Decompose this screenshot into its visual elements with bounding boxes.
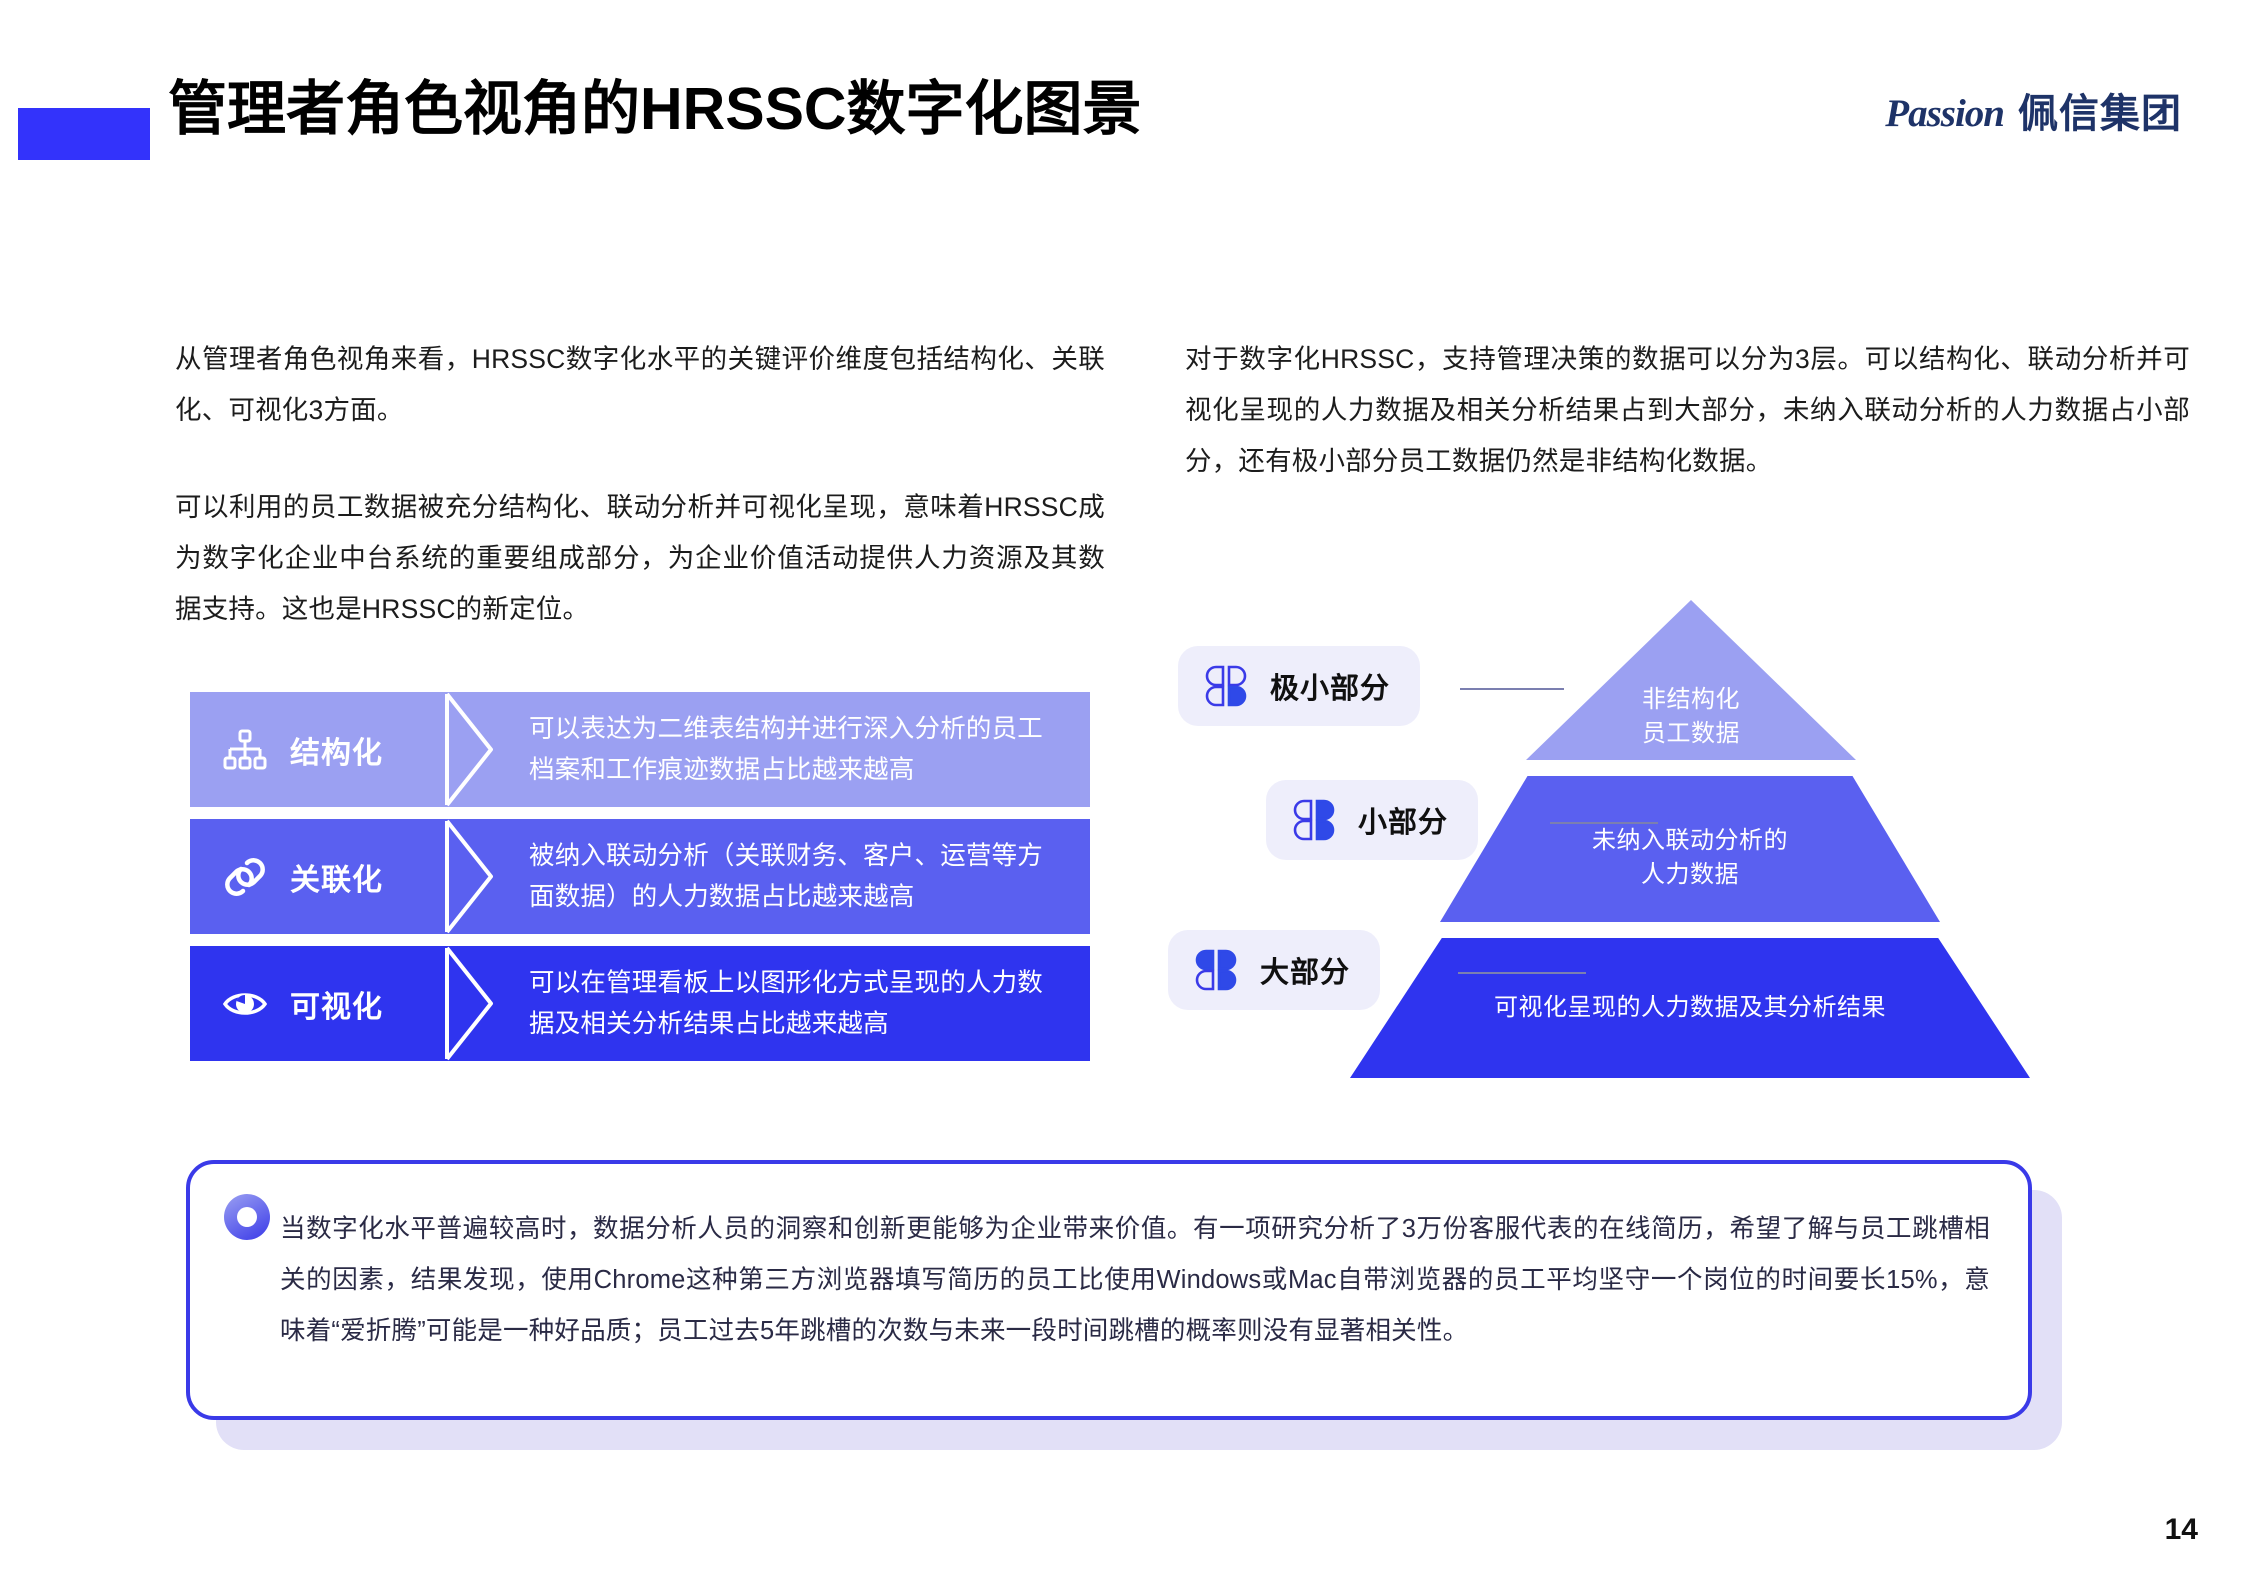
intro-paragraph-left-2: 可以利用的员工数据被充分结构化、联动分析并可视化呈现，意味着HRSSC成为数字化… <box>175 482 1105 635</box>
pyramid-pill-middle-label: 小部分 <box>1358 799 1448 841</box>
page-title: 管理者角色视角的HRSSC数字化图景 <box>168 76 1142 144</box>
intro-paragraph-left-1: 从管理者角色视角来看，HRSSC数字化水平的关键评价维度包括结构化、关联化、可视… <box>175 334 1105 436</box>
leader-line-bottom <box>1458 972 1586 974</box>
pyramid-pill-top-label: 极小部分 <box>1270 665 1390 707</box>
dimension-label-group: 结构化 <box>190 692 445 807</box>
tier-line: 员工数据 <box>1642 717 1740 751</box>
leader-line-top <box>1460 688 1564 690</box>
brand-script-text: Passion <box>1885 85 2004 136</box>
brand-cn-text: 佩信集团 <box>2018 81 2182 139</box>
chevron-divider <box>445 946 503 1061</box>
org-chart-icon <box>222 727 268 773</box>
chevron-divider <box>445 819 503 934</box>
chevron-divider <box>445 692 503 807</box>
slide-root: 管理者角色视角的HRSSC数字化图景 Passion 佩信集团 从管理者角色视角… <box>0 0 2244 1587</box>
dimension-row-structured[interactable]: 结构化 可以表达为二维表结构并进行深入分析的员工档案和工作痕迹数据占比越来越高 <box>190 692 1090 807</box>
pyramid-tier-bottom-text: 可视化呈现的人力数据及其分析结果 <box>1494 991 1886 1025</box>
callout-box: 当数字化水平普遍较高时，数据分析人员的洞察和创新更能够为企业带来价值。有一项研究… <box>186 1160 2032 1420</box>
clover-one-quarter-icon <box>1202 662 1250 710</box>
dimension-description: 可以在管理看板上以图形化方式呈现的人力数据及相关分析结果占比越来越高 <box>529 963 1064 1045</box>
pyramid-tier-bottom[interactable]: 可视化呈现的人力数据及其分析结果 <box>1350 938 2030 1078</box>
dimension-desc-cell: 可以表达为二维表结构并进行深入分析的员工档案和工作痕迹数据占比越来越高 <box>503 692 1090 807</box>
data-pyramid-diagram: 非结构化 员工数据 未纳入联动分析的 人力数据 可视化呈现的人力数据及其分析结果 <box>1190 600 2200 1085</box>
tier-line: 非结构化 <box>1642 683 1740 717</box>
dimension-label-group: 可视化 <box>190 946 445 1061</box>
dimension-description: 可以表达为二维表结构并进行深入分析的员工档案和工作痕迹数据占比越来越高 <box>529 709 1064 791</box>
pyramid-tier-top[interactable]: 非结构化 员工数据 <box>1526 600 1856 760</box>
eye-icon <box>222 981 268 1027</box>
dimension-row-linked[interactable]: 关联化 被纳入联动分析（关联财务、客户、运营等方面数据）的人力数据占比越来越高 <box>190 819 1090 934</box>
ring-bullet-icon <box>224 1194 270 1240</box>
clover-half-icon <box>1290 796 1338 844</box>
dimension-label: 结构化 <box>290 728 383 772</box>
pyramid-tier-middle-text: 未纳入联动分析的 人力数据 <box>1592 806 1788 891</box>
tier-line: 人力数据 <box>1592 858 1788 892</box>
brand-logo: Passion 佩信集团 <box>1885 81 2182 139</box>
pyramid-pill-top[interactable]: 极小部分 <box>1178 646 1420 726</box>
pyramid-pill-bottom-label: 大部分 <box>1260 949 1350 991</box>
pyramid-tier-top-text: 非结构化 员工数据 <box>1642 609 1740 750</box>
pyramid-tier-middle[interactable]: 未纳入联动分析的 人力数据 <box>1440 776 1940 922</box>
clover-three-quarter-icon <box>1192 946 1240 994</box>
pyramid-pill-bottom[interactable]: 大部分 <box>1168 930 1380 1010</box>
tier-line: 可视化呈现的人力数据及其分析结果 <box>1494 991 1886 1025</box>
pyramid-pill-middle[interactable]: 小部分 <box>1266 780 1478 860</box>
callout-text: 当数字化水平普遍较高时，数据分析人员的洞察和创新更能够为企业带来价值。有一项研究… <box>280 1204 1990 1357</box>
dimension-desc-cell: 被纳入联动分析（关联财务、客户、运营等方面数据）的人力数据占比越来越高 <box>503 819 1090 934</box>
chain-link-icon <box>222 854 268 900</box>
intro-paragraph-right-1: 对于数字化HRSSC，支持管理决策的数据可以分为3层。可以结构化、联动分析并可视… <box>1185 334 2190 487</box>
tier-line: 未纳入联动分析的 <box>1592 824 1788 858</box>
dimension-desc-cell: 可以在管理看板上以图形化方式呈现的人力数据及相关分析结果占比越来越高 <box>503 946 1090 1061</box>
dimension-label-group: 关联化 <box>190 819 445 934</box>
leader-line-mid <box>1550 822 1658 824</box>
title-accent-bar <box>18 108 150 160</box>
dimension-row-visualized[interactable]: 可视化 可以在管理看板上以图形化方式呈现的人力数据及相关分析结果占比越来越高 <box>190 946 1090 1061</box>
dimension-description: 被纳入联动分析（关联财务、客户、运营等方面数据）的人力数据占比越来越高 <box>529 836 1064 918</box>
page-number: 14 <box>2165 1513 2198 1547</box>
dimension-label: 关联化 <box>290 855 383 899</box>
dimension-label: 可视化 <box>290 982 383 1026</box>
dimensions-table: 结构化 可以表达为二维表结构并进行深入分析的员工档案和工作痕迹数据占比越来越高 <box>190 692 1090 1061</box>
